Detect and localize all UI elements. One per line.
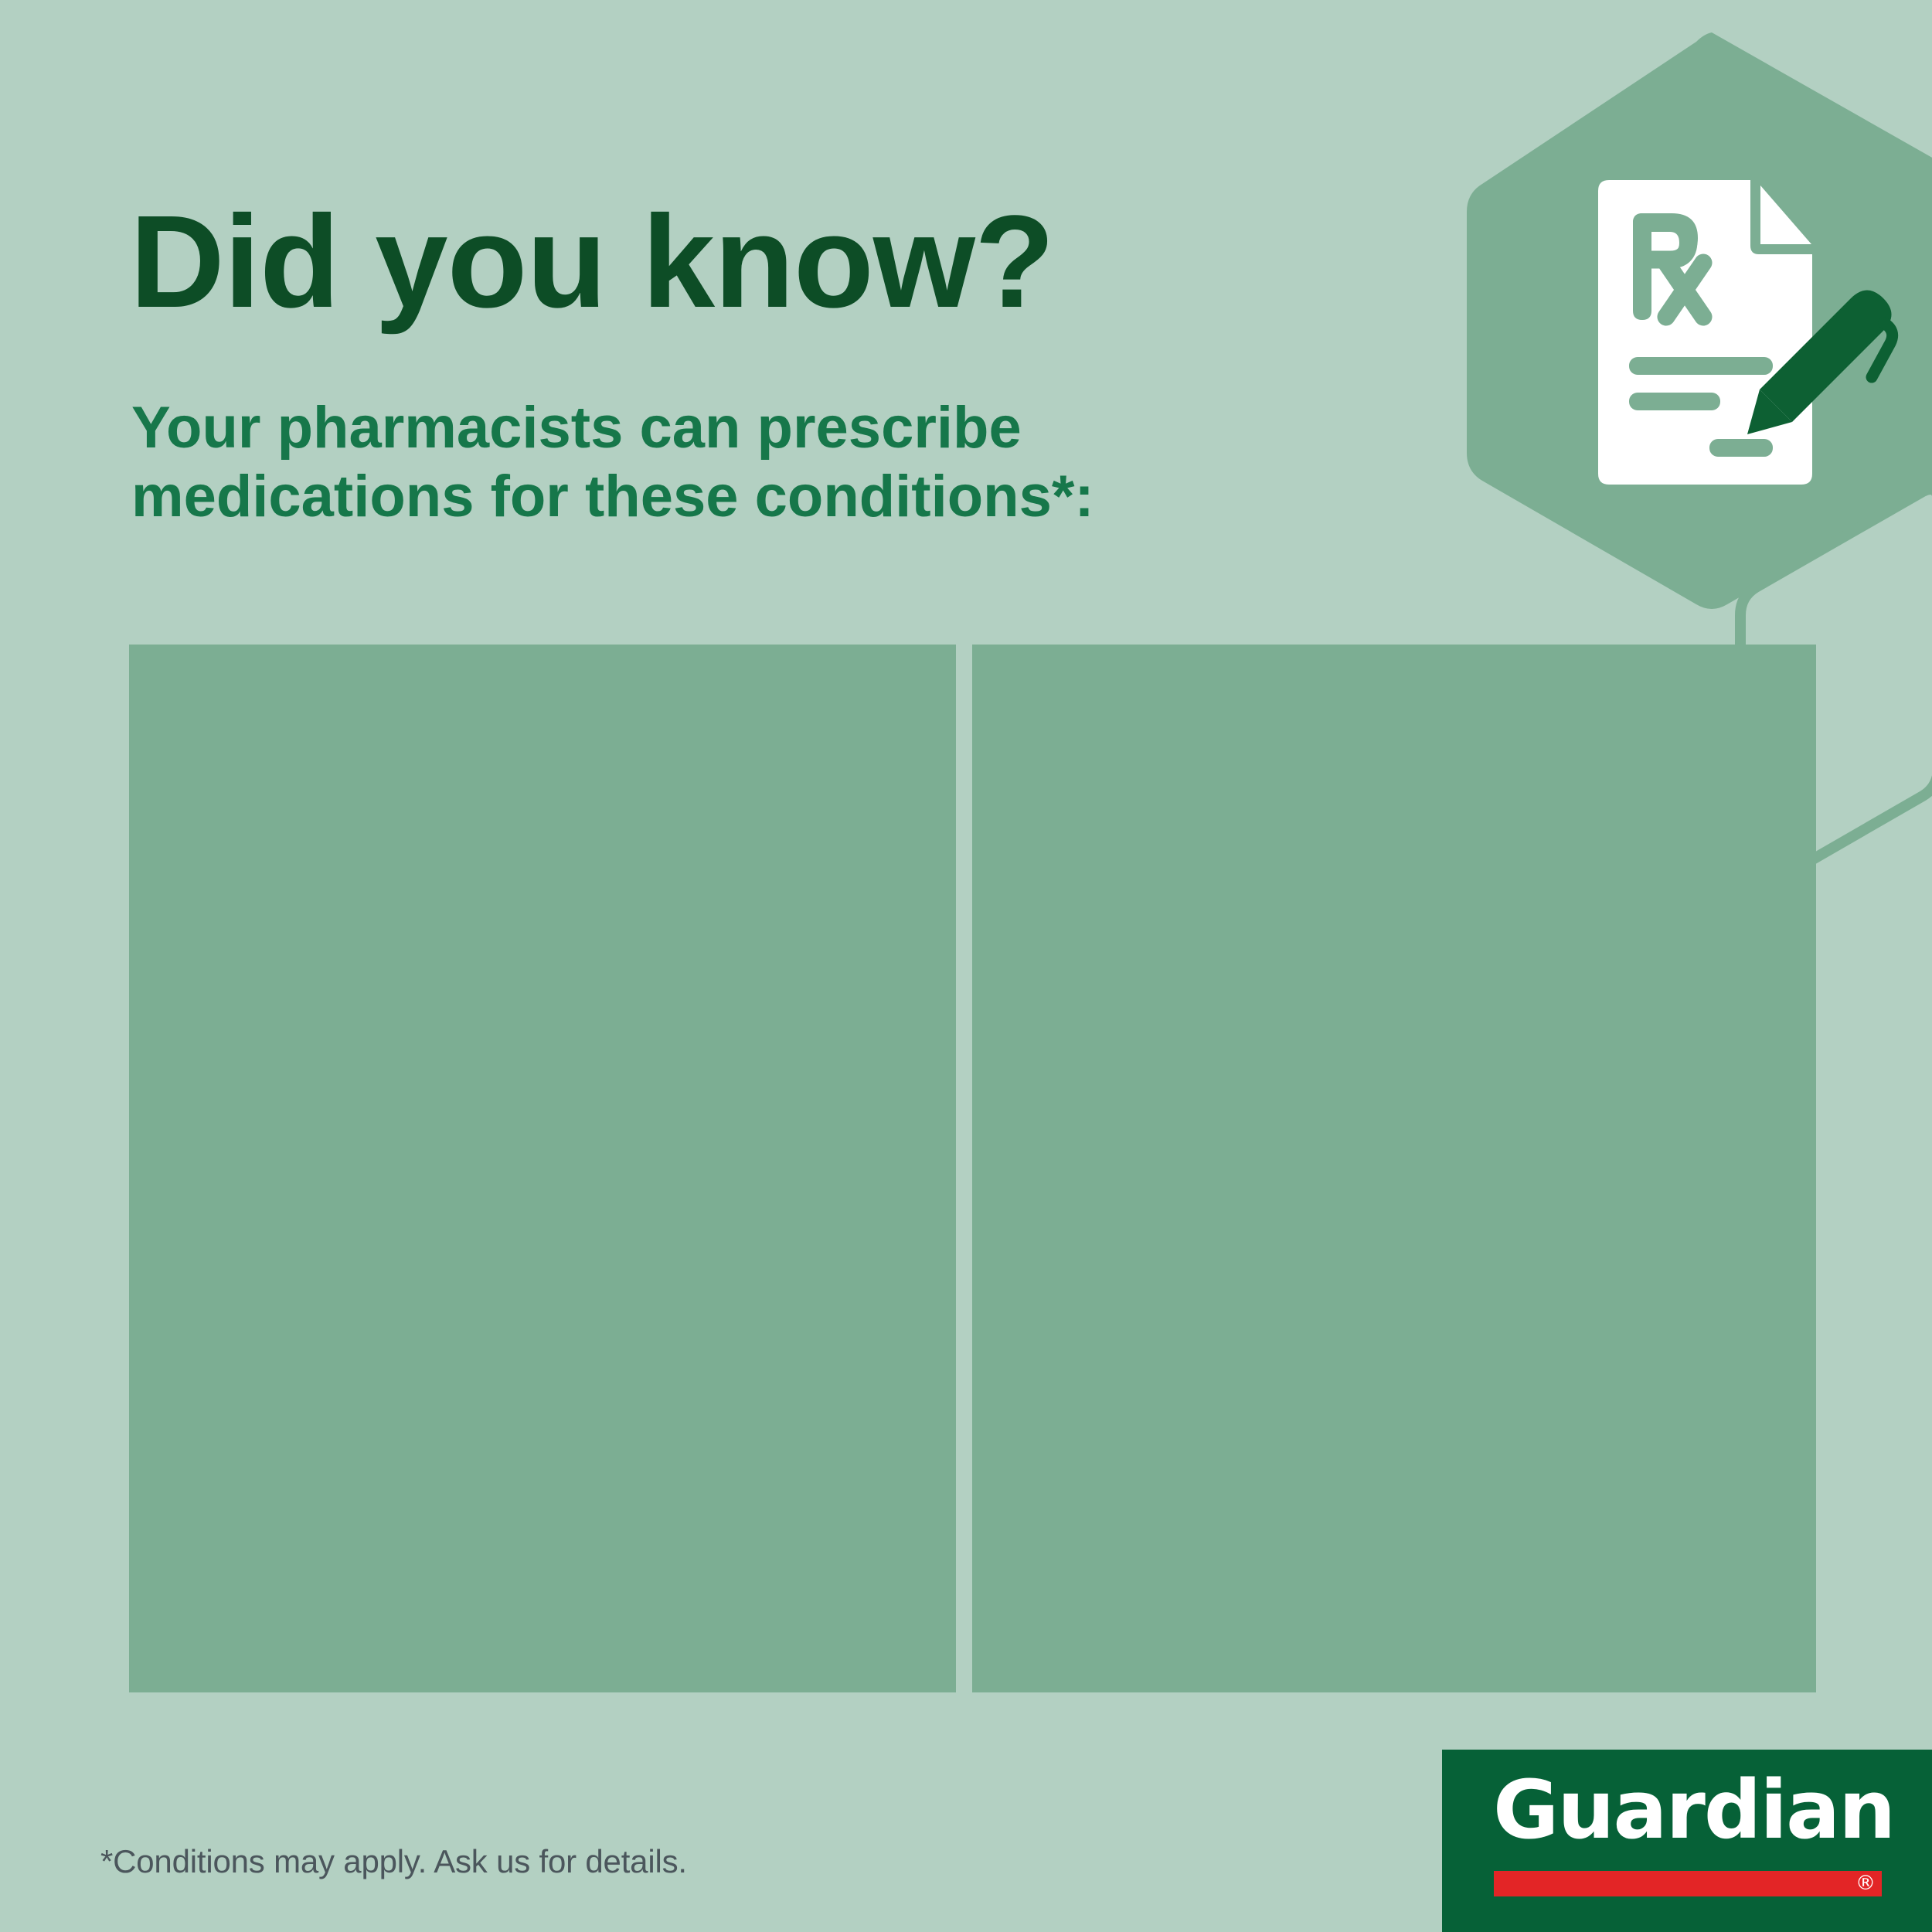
page-subtitle: Your pharmacists can prescribe medicatio… [131,394,1094,532]
pen-tip-shape [1747,389,1792,434]
rx-letter-r-bowl-icon [1642,223,1689,260]
rx-signature-line [1709,439,1773,457]
poster-canvas: Did you know? Your pharmacists can presc… [0,0,1932,1932]
page-subtitle-line-2: medications for these conditions*: [131,463,1094,532]
rx-letter-r-stem-icon [1633,213,1651,315]
footnote-disclaimer: *Conditions may apply. Ask us for detail… [100,1843,687,1880]
guardian-red-rule: ® [1494,1871,1882,1896]
guardian-wordmark: Guardian [1493,1774,1883,1845]
rx-paper-fold-shape [1760,185,1811,244]
rx-textline-1 [1629,357,1773,375]
solid-hexagon-shape [1467,32,1932,609]
page-title: Did you know? [130,196,1054,328]
rx-letter-r-icon [1633,213,1698,320]
pen-barrel-shape [1760,291,1892,423]
rx-textline-2 [1629,393,1720,410]
rx-paper-shape [1598,180,1812,485]
rx-letter-x-icon [1666,263,1703,317]
rx-pen-icon [1747,291,1893,435]
rx-prescription-document-icon [1598,180,1893,485]
guardian-brand-logo: Guardian ® [1442,1750,1932,1932]
pen-clip-shape [1872,323,1893,377]
registered-trademark-icon: ® [1855,1872,1876,1896]
content-panel-right [972,645,1816,1692]
page-subtitle-line-1: Your pharmacists can prescribe [131,394,1094,463]
content-panel-left [129,645,956,1692]
